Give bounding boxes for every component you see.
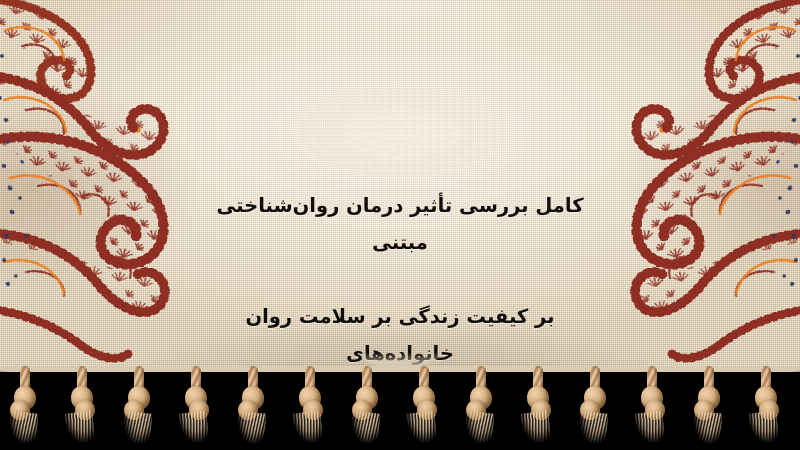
tassel (122, 366, 156, 444)
tassel (692, 366, 726, 444)
tassel-skirt (119, 411, 152, 446)
title-line-2: بر کیفیت زندگی بر سلامت روان خانواده‌های (196, 298, 604, 372)
title-line-1: کامل بررسی تأثیر درمان روان‌شناختی مبتنی (196, 187, 604, 261)
tassel-skirt (5, 411, 38, 446)
tassel-skirt (461, 411, 494, 446)
tassel-skirt (632, 410, 666, 445)
tassel-skirt (62, 410, 96, 445)
tassel (464, 366, 498, 444)
tassel-skirt (176, 410, 210, 445)
tassel (749, 366, 783, 444)
tassel-skirt (290, 410, 324, 445)
tassel (350, 366, 384, 444)
tassel-skirt (689, 411, 722, 446)
knotted-tassel-fringe (0, 366, 800, 450)
tassel (236, 366, 270, 444)
textile-title-card: کامل بررسی تأثیر درمان روان‌شناختی مبتنی… (0, 0, 800, 450)
tassel (179, 366, 213, 444)
tassel-skirt (404, 410, 438, 445)
tassel-skirt (575, 411, 608, 446)
tassel (521, 366, 555, 444)
tassel-skirt (746, 410, 780, 445)
tassel (293, 366, 327, 444)
tassel-skirt (233, 411, 266, 446)
tassel (635, 366, 669, 444)
tassel (578, 366, 612, 444)
tassel (8, 366, 42, 444)
tassel (407, 366, 441, 444)
tassel (65, 366, 99, 444)
tassel-skirt (518, 410, 552, 445)
tassel-skirt (347, 411, 380, 446)
